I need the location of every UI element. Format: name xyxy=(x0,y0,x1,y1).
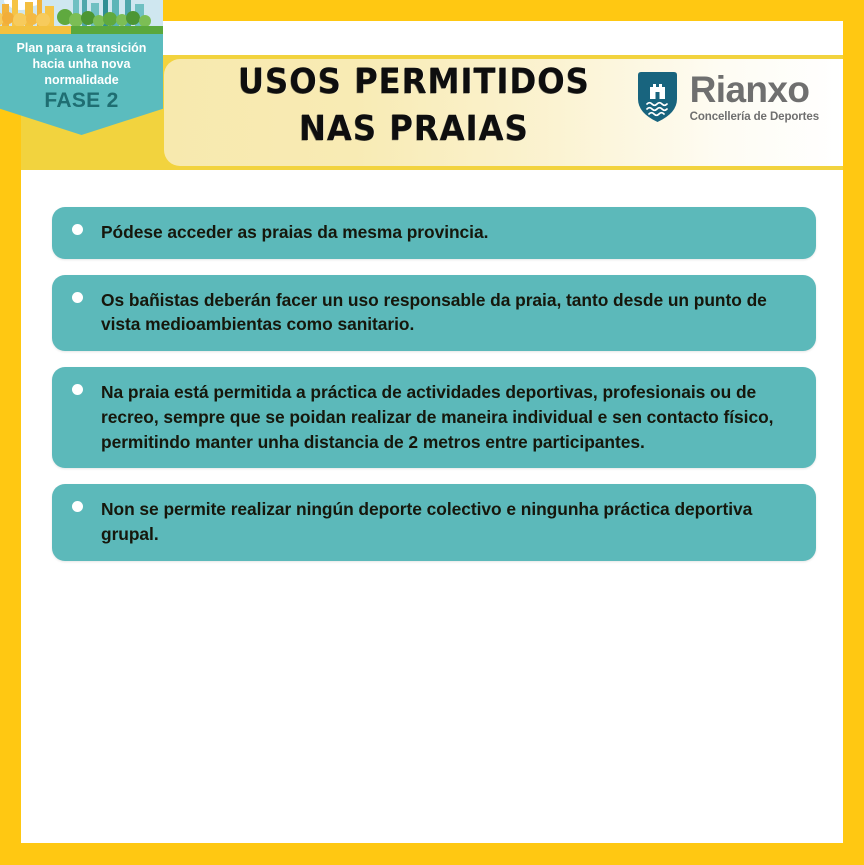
bullet-icon xyxy=(72,292,83,303)
bullet-icon xyxy=(72,224,83,235)
brand-block: Plan para a transición hacia unha nova n… xyxy=(0,0,163,161)
rule-item: Na praia está permitida a práctica de ac… xyxy=(52,367,816,468)
rule-text: Os bañistas deberán facer un uso respons… xyxy=(101,288,796,337)
rule-item: Non se permite realizar ningún deporte c… xyxy=(52,484,816,560)
phase-badge-subtitle: Plan para a transición hacia unha nova n… xyxy=(0,40,163,88)
rules-list: Pódese acceder as praias da mesma provin… xyxy=(52,207,816,577)
rule-text: Non se permite realizar ningún deporte c… xyxy=(101,497,796,546)
bullet-icon xyxy=(72,384,83,395)
poster-root: USOS PERMITIDOS NAS PRAIAS Rianxo Concel… xyxy=(0,0,864,865)
rianxo-logo-text: Rianxo Concellería de Deportes xyxy=(690,71,819,124)
castle-tower-waves-shield-icon xyxy=(636,71,679,123)
rule-text: Na praia está permitida a práctica de ac… xyxy=(101,380,796,454)
phase-badge-label: FASE 2 xyxy=(0,89,163,113)
rule-item: Os bañistas deberán facer un uso respons… xyxy=(52,275,816,351)
phase-badge: Plan para a transición hacia unha nova n… xyxy=(0,34,163,135)
rianxo-logo-name: Rianxo xyxy=(690,71,819,108)
rianxo-logo-subtitle: Concellería de Deportes xyxy=(690,112,819,124)
bullet-icon xyxy=(72,501,83,512)
rule-item: Pódese acceder as praias da mesma provin… xyxy=(52,207,816,259)
rule-text: Pódese acceder as praias da mesma provin… xyxy=(101,220,796,245)
rianxo-logo: Rianxo Concellería de Deportes xyxy=(636,67,819,127)
